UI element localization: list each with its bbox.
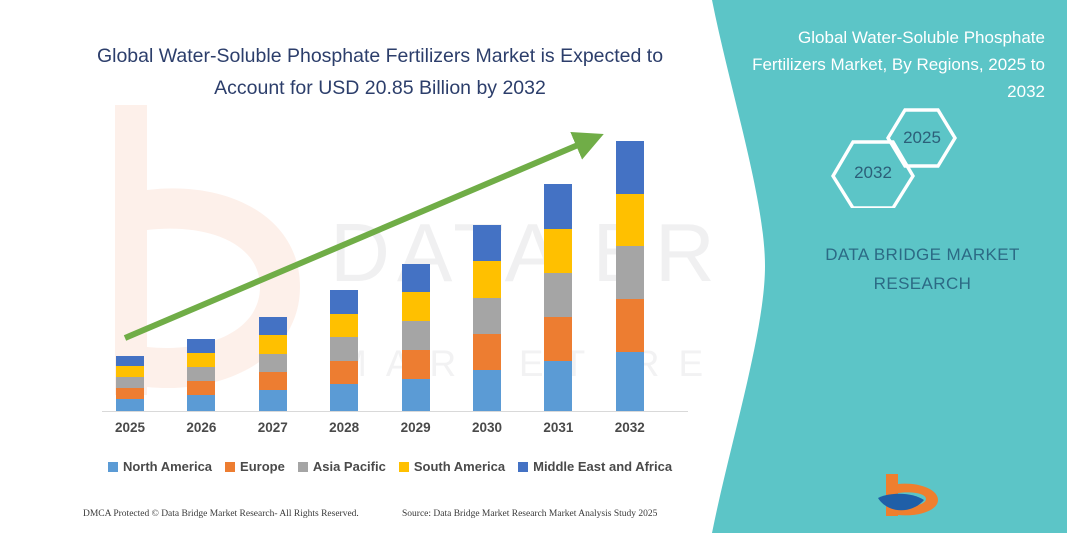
bar-segment-north-america <box>544 361 572 411</box>
bar-segment-south-america <box>616 194 644 247</box>
bar-segment-south-america <box>116 366 144 377</box>
x-axis-label-2030: 2030 <box>457 420 517 435</box>
bar-segment-asia-pacific <box>402 321 430 350</box>
footer-source: Source: Data Bridge Market Research Mark… <box>402 509 657 519</box>
bar-segment-middle-east-and-africa <box>187 339 215 353</box>
bar-segment-europe <box>259 372 287 390</box>
bar-segment-europe <box>330 361 358 385</box>
bar-segment-asia-pacific <box>616 246 644 299</box>
legend-label: Asia Pacific <box>313 459 386 474</box>
bar-segment-middle-east-and-africa <box>473 225 501 261</box>
bar-segment-north-america <box>473 370 501 411</box>
hexagon-group: 2032 2025 <box>820 108 1010 208</box>
bar-segment-europe <box>544 317 572 361</box>
bar-segment-south-america <box>544 229 572 273</box>
bar-segment-south-america <box>330 314 358 338</box>
legend-item-north-america[interactable]: North America <box>108 459 212 474</box>
bar-segment-north-america <box>187 395 215 411</box>
x-axis-label-2032: 2032 <box>600 420 660 435</box>
chart-plot-area <box>80 120 690 411</box>
legend-swatch-icon <box>518 462 528 472</box>
legend-swatch-icon <box>225 462 235 472</box>
bar-segment-asia-pacific <box>259 354 287 372</box>
bar-2027 <box>259 317 287 411</box>
bar-segment-middle-east-and-africa <box>116 356 144 367</box>
bar-2032 <box>616 141 644 411</box>
x-axis-line <box>102 411 688 412</box>
bar-segment-asia-pacific <box>116 377 144 388</box>
hexagon-2025-label: 2025 <box>892 128 952 148</box>
legend-item-europe[interactable]: Europe <box>225 459 285 474</box>
bar-segment-asia-pacific <box>187 367 215 381</box>
bar-segment-north-america <box>616 352 644 411</box>
bar-segment-asia-pacific <box>330 337 358 361</box>
panel-brand-text: DATA BRIDGE MARKET RESEARCH <box>790 240 1055 298</box>
bar-2029 <box>402 264 430 411</box>
panel-title: Global Water-Soluble Phosphate Fertilize… <box>745 24 1045 105</box>
bar-segment-north-america <box>330 384 358 411</box>
chart-legend: North AmericaEuropeAsia PacificSouth Ame… <box>90 459 690 474</box>
x-axis-label-2027: 2027 <box>243 420 303 435</box>
x-axis-label-2025: 2025 <box>100 420 160 435</box>
growth-arrow-icon <box>80 120 690 411</box>
x-axis-label-2031: 2031 <box>528 420 588 435</box>
legend-swatch-icon <box>399 462 409 472</box>
legend-swatch-icon <box>108 462 118 472</box>
bar-2028 <box>330 290 358 411</box>
legend-label: North America <box>123 459 212 474</box>
x-axis-labels: 20252026202720282029203020312032 <box>80 420 690 444</box>
bar-segment-europe <box>616 299 644 352</box>
bar-segment-north-america <box>402 379 430 411</box>
logo-mark-icon <box>872 470 954 520</box>
x-axis-label-2026: 2026 <box>171 420 231 435</box>
bar-segment-north-america <box>259 390 287 411</box>
bar-segment-middle-east-and-africa <box>402 264 430 293</box>
legend-label: South America <box>414 459 505 474</box>
bar-segment-south-america <box>187 353 215 367</box>
legend-item-asia-pacific[interactable]: Asia Pacific <box>298 459 386 474</box>
bar-segment-north-america <box>116 399 144 411</box>
bar-2030 <box>473 225 501 411</box>
bar-segment-south-america <box>259 335 287 353</box>
bar-segment-south-america <box>402 292 430 321</box>
bar-segment-middle-east-and-africa <box>259 317 287 335</box>
bar-segment-europe <box>402 350 430 379</box>
bar-segment-asia-pacific <box>473 298 501 334</box>
bar-2031 <box>544 184 572 411</box>
legend-label: Middle East and Africa <box>533 459 672 474</box>
legend-label: Europe <box>240 459 285 474</box>
bar-segment-europe <box>187 381 215 395</box>
bar-segment-middle-east-and-africa <box>544 184 572 228</box>
bar-segment-asia-pacific <box>544 273 572 317</box>
infographic-canvas: DATA BRIDGE MARKET RESEARCH Global Water… <box>0 0 1067 533</box>
bar-segment-europe <box>473 334 501 370</box>
bar-segment-middle-east-and-africa <box>330 290 358 314</box>
legend-item-south-america[interactable]: South America <box>399 459 505 474</box>
bar-segment-south-america <box>473 261 501 297</box>
stacked-bar-chart: 20252026202720282029203020312032 <box>80 120 690 420</box>
page-title: Global Water-Soluble Phosphate Fertilize… <box>60 40 700 104</box>
bar-segment-middle-east-and-africa <box>616 141 644 194</box>
data-bridge-logo: DATA BRIDGE MARKET RESEARCH <box>872 470 1047 520</box>
bar-2026 <box>187 339 215 411</box>
x-axis-label-2028: 2028 <box>314 420 374 435</box>
legend-swatch-icon <box>298 462 308 472</box>
bar-2025 <box>116 356 144 412</box>
x-axis-label-2029: 2029 <box>386 420 446 435</box>
footer-copyright: DMCA Protected © Data Bridge Market Rese… <box>83 509 359 519</box>
legend-item-middle-east-and-africa[interactable]: Middle East and Africa <box>518 459 672 474</box>
bar-segment-europe <box>116 388 144 399</box>
hexagon-2032-label: 2032 <box>842 163 904 183</box>
